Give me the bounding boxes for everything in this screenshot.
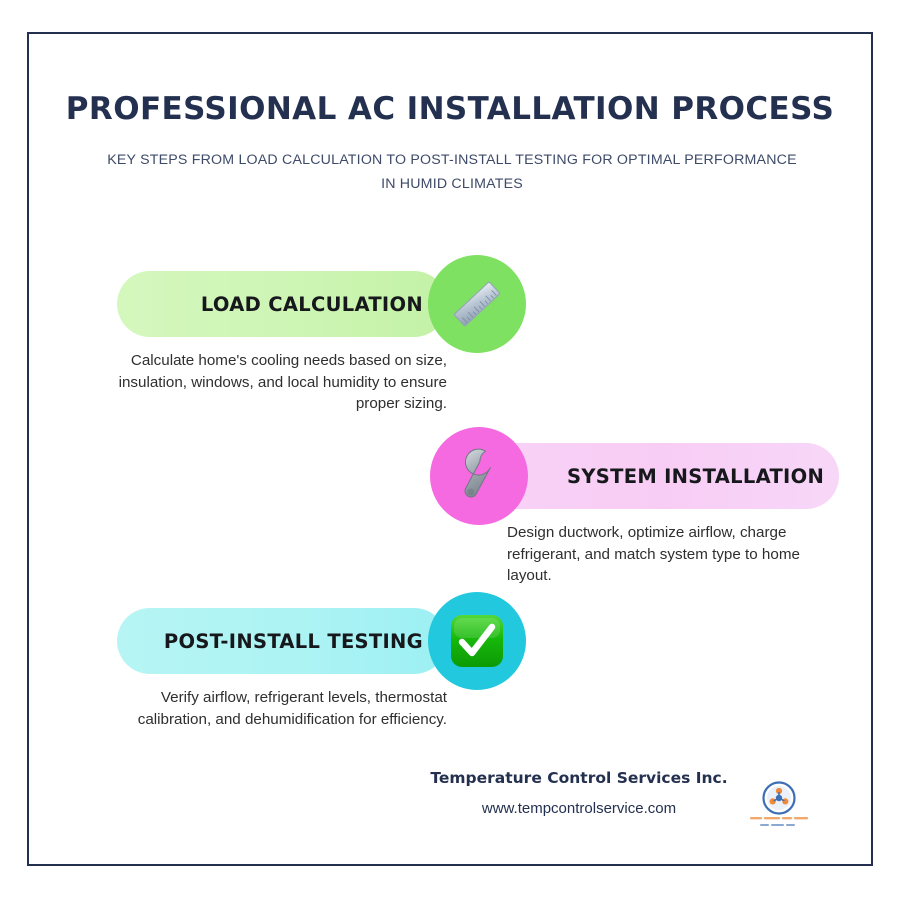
step-1-icon-circle (428, 255, 526, 353)
step-2-label: SYSTEM INSTALLATION (567, 465, 824, 488)
step-3-pill: POST-INSTALL TESTING (117, 608, 447, 674)
step-3-post-install-testing: POST-INSTALL TESTING Verify airflow, ref… (57, 591, 557, 781)
infographic-poster: PROFESSIONAL AC INSTALLATION PROCESS KEY… (27, 32, 873, 866)
step-1-pill: LOAD CALCULATION (117, 271, 447, 337)
company-logo (742, 779, 816, 835)
check-mark-icon (447, 611, 507, 671)
wrench-icon (448, 445, 510, 507)
page-title: PROFESSIONAL AC INSTALLATION PROCESS (29, 91, 871, 127)
ruler-icon (447, 274, 507, 334)
step-2-system-installation: SYSTEM INSTALLATION Design ductwork (389, 426, 889, 616)
step-1-load-calculation: LOAD CALCULATION (57, 254, 557, 444)
footer-company-name: Temperature Control Services Inc. (424, 769, 734, 787)
step-3-label: POST-INSTALL TESTING (164, 630, 423, 653)
company-logo-icon (742, 779, 816, 835)
step-1-label: LOAD CALCULATION (201, 293, 423, 316)
page-subtitle: KEY STEPS FROM LOAD CALCULATION TO POST-… (101, 148, 803, 196)
footer-website-url: www.tempcontrolservice.com (424, 800, 734, 817)
step-2-icon-circle (430, 427, 528, 525)
step-2-description: Design ductwork, optimize airflow, charg… (507, 522, 807, 587)
step-1-description: Calculate home's cooling needs based on … (117, 350, 447, 415)
step-3-icon-circle (428, 592, 526, 690)
step-3-description: Verify airflow, refrigerant levels, ther… (102, 687, 447, 730)
